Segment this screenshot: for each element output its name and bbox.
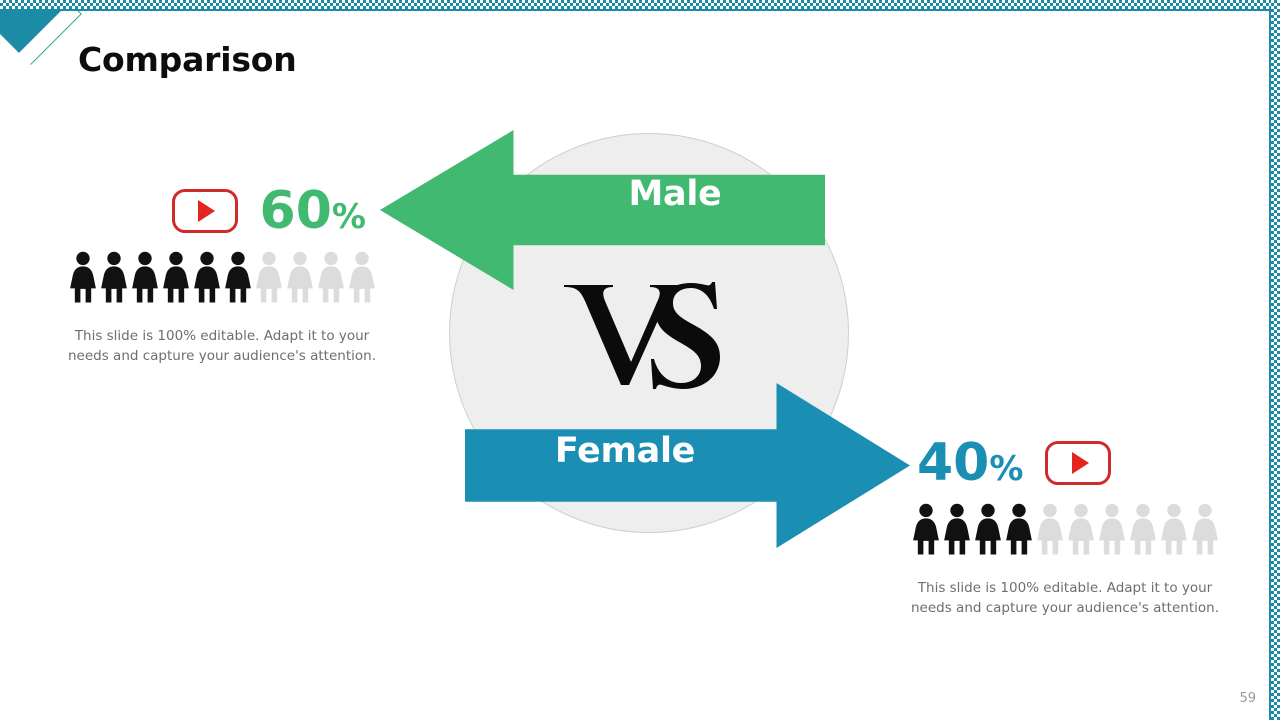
person-icon (1128, 503, 1158, 560)
male-percentage-symbol: % (332, 197, 366, 237)
person-icon (99, 251, 129, 308)
person-icon (1190, 503, 1220, 560)
female-people-icons (905, 503, 1225, 560)
person-icon (1035, 503, 1065, 560)
male-stat-header: 60% (62, 185, 382, 237)
female-stat-block: 40% This slide is 100% editable. Adapt i… (905, 437, 1225, 619)
female-percentage-number: 40 (917, 433, 989, 493)
versus-graphic: Male Female (380, 125, 910, 555)
female-percentage: 40% (917, 437, 1023, 489)
male-stat-block: 60% This slide is 100% editable. Adapt i… (62, 185, 382, 367)
video-play-icon[interactable] (172, 189, 238, 233)
person-icon (316, 251, 346, 308)
person-icon (911, 503, 941, 560)
person-icon (1004, 503, 1034, 560)
person-icon (285, 251, 315, 308)
person-icon (973, 503, 1003, 560)
male-caption-text: This slide is 100% editable. Adapt it to… (62, 326, 382, 367)
video-play-icon[interactable] (1045, 441, 1111, 485)
vs-monogram-icon (558, 273, 728, 393)
female-caption-text: This slide is 100% editable. Adapt it to… (905, 578, 1225, 619)
male-people-icons (62, 251, 382, 308)
person-icon (1159, 503, 1189, 560)
female-percentage-symbol: % (989, 449, 1023, 489)
male-arrow-label: Male (555, 174, 795, 214)
right-checkered-border (1271, 0, 1280, 720)
female-stat-header: 40% (905, 437, 1225, 489)
top-border-line (0, 9, 1271, 11)
person-icon (942, 503, 972, 560)
male-percentage-number: 60 (260, 181, 332, 241)
person-icon (254, 251, 284, 308)
person-icon (68, 251, 98, 308)
person-icon (1066, 503, 1096, 560)
person-icon (161, 251, 191, 308)
play-triangle-icon (1072, 452, 1089, 474)
right-border-line (1269, 9, 1271, 720)
male-percentage: 60% (260, 185, 366, 237)
person-icon (347, 251, 377, 308)
person-icon (1097, 503, 1127, 560)
slide-canvas: Comparison Male Female 60% This slid (0, 0, 1280, 720)
person-icon (130, 251, 160, 308)
person-icon (192, 251, 222, 308)
page-number: 59 (1239, 691, 1256, 706)
page-title: Comparison (78, 40, 297, 79)
play-triangle-icon (198, 200, 215, 222)
female-arrow-label: Female (495, 431, 755, 471)
person-icon (223, 251, 253, 308)
top-checkered-border (0, 0, 1280, 9)
